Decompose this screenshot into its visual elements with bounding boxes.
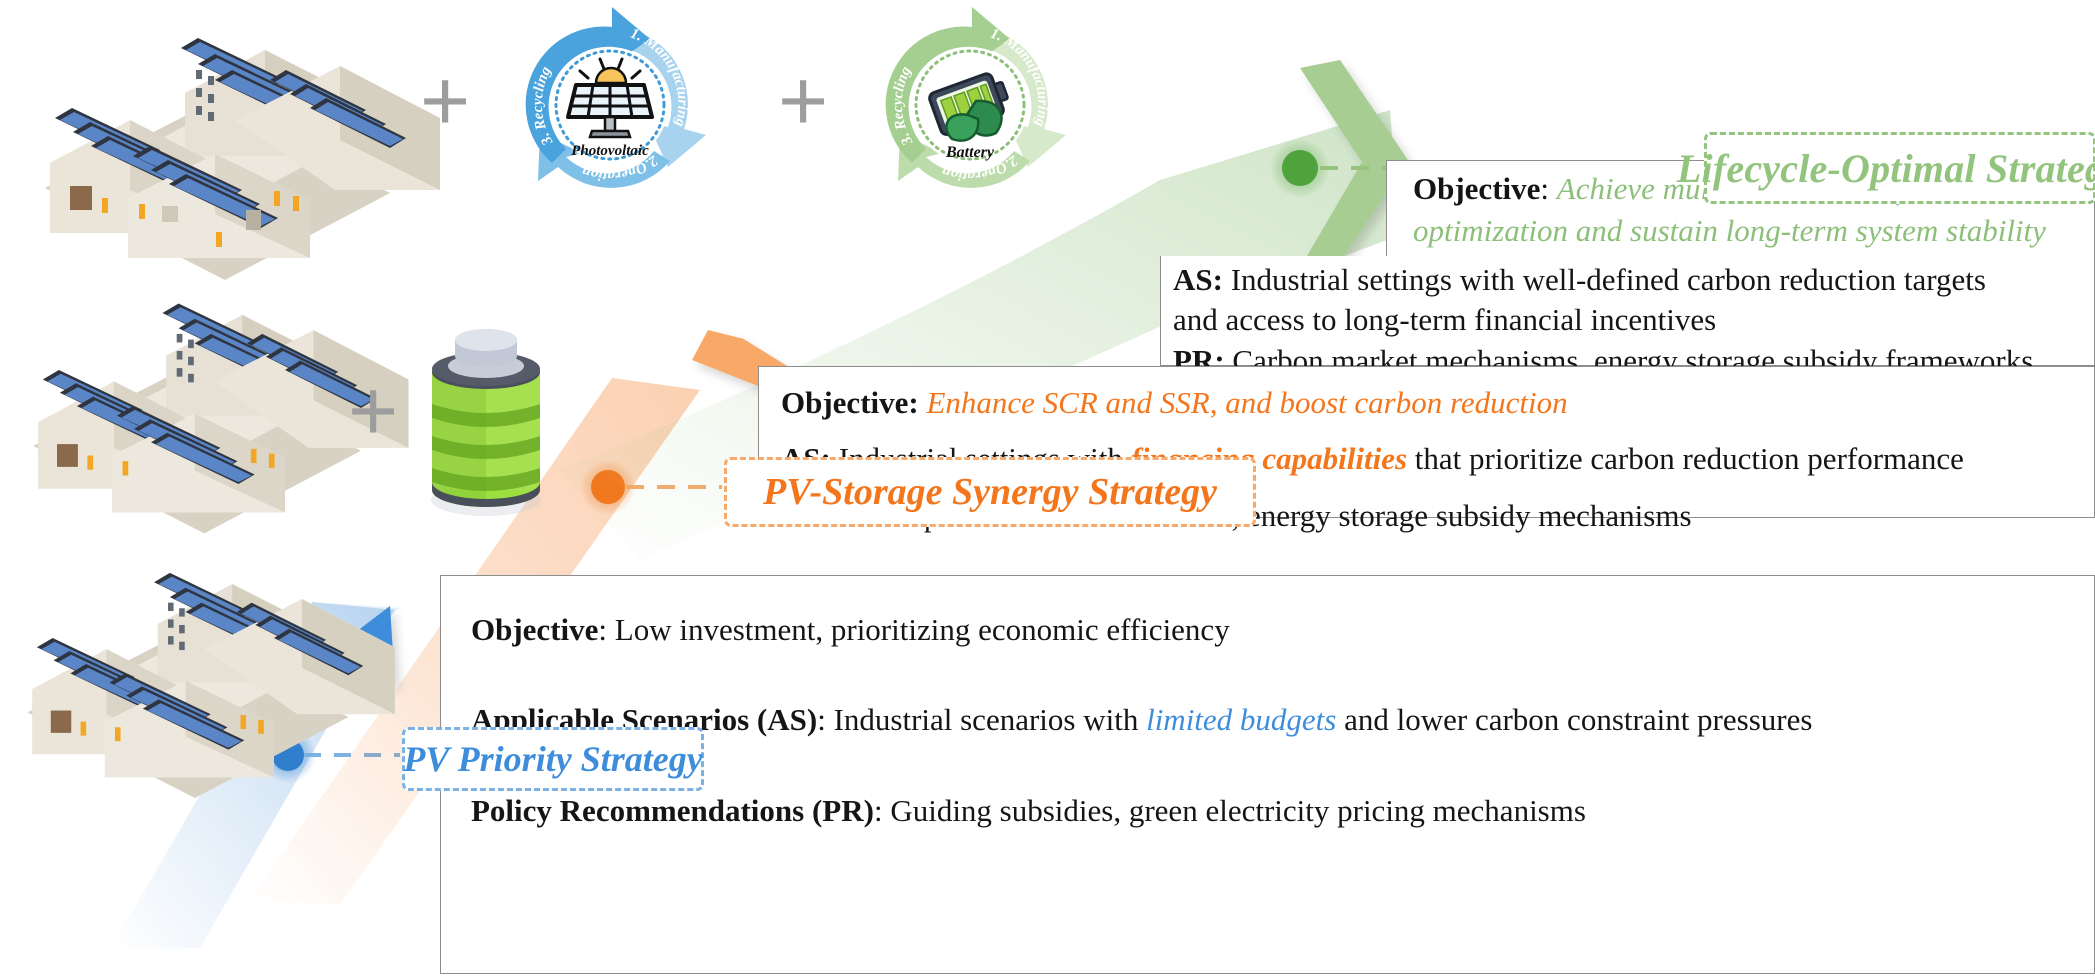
factory-illustration-top [45, 38, 440, 280]
label-as: AS: [1173, 262, 1223, 297]
value-pr: Guiding subsidies, green electricity pri… [890, 793, 1586, 828]
lifecycle-wheel-photovoltaic: Photovoltaic 1. Manufacturing 2.Operatio… [526, 7, 706, 188]
value-as-post: that prioritize carbon reduction perform… [1407, 441, 1964, 476]
value-as-post: and lower carbon constraint pressures [1336, 702, 1812, 737]
wheel-center-label-photovoltaic: Photovoltaic [571, 143, 649, 159]
plus-icon-1: + [420, 58, 470, 144]
row-as: Applicable Scenarios (AS): Industrial sc… [471, 700, 2094, 740]
value-as-line2: and access to long-term financial incent… [1173, 302, 1716, 337]
value-objective: Enhance SCR and SSR, and boost carbon re… [919, 385, 1568, 420]
lifecycle-wheel-battery: Battery 1. Manufacturing 2.Operation 3. … [886, 7, 1066, 188]
value-objective: Low investment, prioritizing economic ef… [615, 612, 1230, 647]
sep-objective: : [598, 612, 614, 647]
title-pill-pv-storage-synergy[interactable]: PV-Storage Synergy Strategy [724, 457, 1256, 527]
plus-icon-2: + [778, 58, 828, 144]
sep-objective: : [1540, 171, 1556, 206]
value-as-line1: Industrial settings with well-defined ca… [1223, 262, 1986, 297]
label-pr: Policy Recommendations (PR) [471, 793, 874, 828]
label-objective: Objective [1413, 171, 1540, 206]
title-pill-lifecycle-optimal[interactable]: Lifecycle-Optimal Strategy [1704, 132, 2095, 204]
label-objective: Objective [471, 612, 598, 647]
value-as-pre: Industrial scenarios with [834, 702, 1147, 737]
wheel-center-label-battery: Battery [945, 144, 995, 161]
sep-as: : [817, 702, 833, 737]
title-lifecycle-optimal: Lifecycle-Optimal Strategy [1677, 145, 2095, 192]
title-pv-priority: PV Priority Strategy [403, 738, 702, 780]
row-as: AS: Industrial settings with well-define… [1173, 260, 2094, 300]
row-objective-cont: optimization and sustain long-term syste… [1401, 211, 2094, 251]
label-objective: Objective: [781, 385, 919, 420]
row-objective: Objective: Low investment, prioritizing … [471, 610, 2094, 650]
row-objective: Objective: Enhance SCR and SSR, and boos… [781, 383, 2094, 423]
diagram-canvas: Photovoltaic 1. Manufacturing 2.Operatio… [0, 0, 2095, 978]
row-pr: Policy Recommendations (PR): Guiding sub… [471, 791, 2094, 831]
value-as-emphasis: limited budgets [1146, 702, 1336, 737]
battery-cylinder-icon [431, 329, 541, 516]
title-pv-storage-synergy: PV-Storage Synergy Strategy [763, 470, 1217, 514]
title-pill-pv-priority[interactable]: PV Priority Strategy [402, 727, 704, 791]
plus-icon-3: + [348, 368, 398, 454]
sep-pr: : [874, 793, 890, 828]
row-as-cont: and access to long-term financial incent… [1173, 300, 2094, 340]
value-objective-line2: optimization and sustain long-term syste… [1413, 213, 2046, 248]
panel-lifecycle-optimal-details: AS: Industrial settings with well-define… [1160, 256, 2095, 366]
